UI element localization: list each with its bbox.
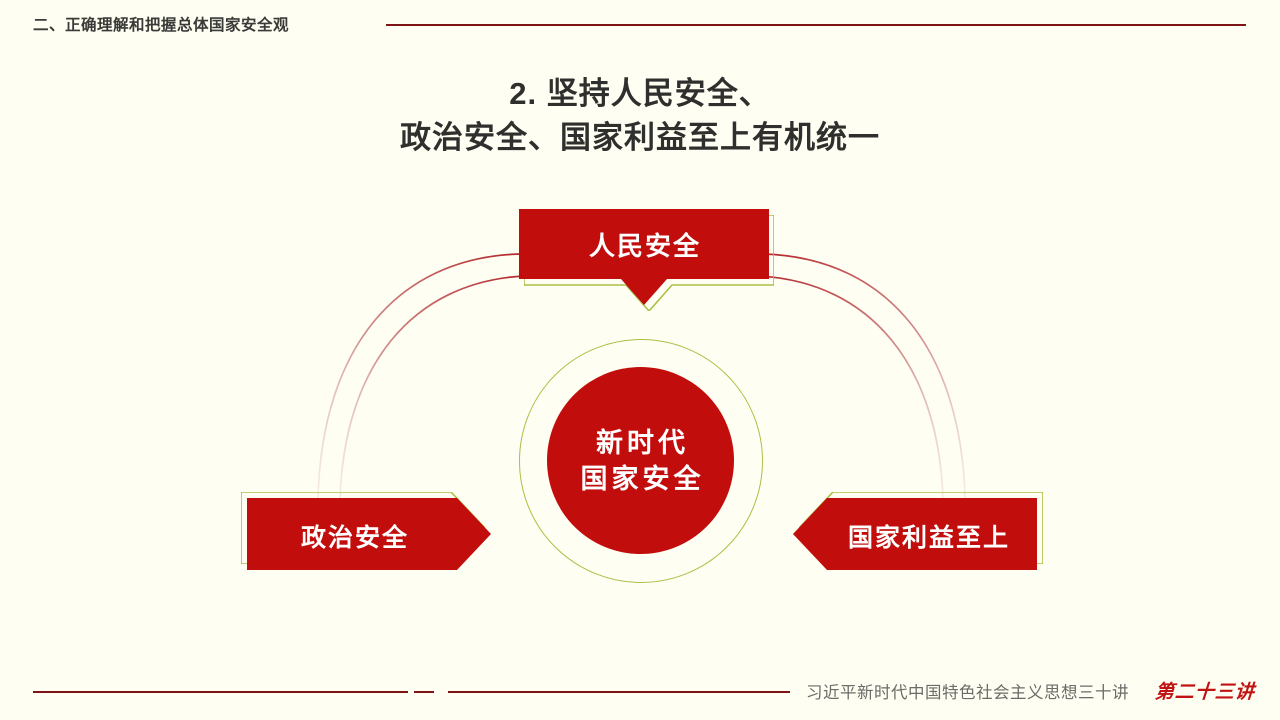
diagram-center-node[interactable]: 新时代 国家安全 xyxy=(519,339,763,583)
node-left-label: 政治安全 xyxy=(247,518,463,554)
diagram-node-top[interactable]: 人民安全 xyxy=(519,209,769,305)
footer-divider-dash xyxy=(414,691,434,693)
diagram-stage: 人民安全 新时代 国家安全 政治安全 国家利益至上 xyxy=(0,0,1280,720)
arc-top-to-left-outer xyxy=(318,254,519,498)
arc-top-to-right-outer xyxy=(764,254,965,498)
center-label-line-1: 新时代 xyxy=(592,425,689,461)
node-top-label: 人民安全 xyxy=(519,226,769,263)
diagram-node-left[interactable]: 政治安全 xyxy=(247,498,491,570)
center-label-line-2: 国家安全 xyxy=(577,461,705,497)
footer-series-text: 习近平新时代中国特色社会主义思想三十讲 xyxy=(806,679,1129,703)
arc-top-to-left-inner xyxy=(340,276,524,500)
diagram-node-right[interactable]: 国家利益至上 xyxy=(793,498,1037,570)
center-disc: 新时代 国家安全 xyxy=(547,367,734,554)
footer-lecture-badge: 第二十三讲 xyxy=(1154,677,1256,704)
arc-top-to-right-inner xyxy=(759,276,943,500)
node-right-label: 国家利益至上 xyxy=(821,518,1037,554)
